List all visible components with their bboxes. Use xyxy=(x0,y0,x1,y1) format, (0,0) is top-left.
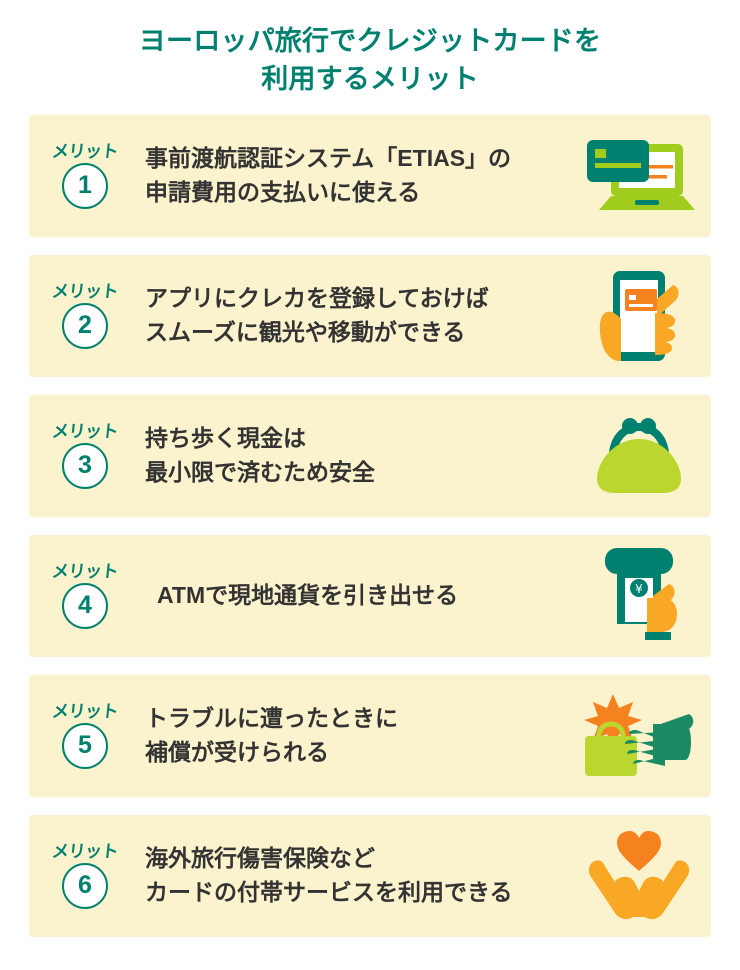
merit-label-6: メリット xyxy=(51,843,119,860)
merit-label-3: メリット xyxy=(51,423,119,440)
merit-text-5-line-2: 補償が受けられる xyxy=(145,736,573,769)
suitcase-trouble-hand-icon xyxy=(573,686,705,786)
merit-badge-3: メリット 3 xyxy=(37,423,133,489)
page-title: ヨーロッパ旅行でクレジットカードを 利用するメリット xyxy=(0,0,740,99)
merit-card-6: メリット 6 海外旅行傷害保険など カードの付帯サービスを利用できる xyxy=(29,815,711,937)
merit-text-5-line-1: トラブルに遭ったときに xyxy=(145,702,573,735)
laptop-credit-card-icon xyxy=(573,126,705,226)
merit-card-2: メリット 2 アプリにクレカを登録しておけば スムーズに観光や移動ができる xyxy=(29,255,711,377)
merit-text-6-line-1: 海外旅行傷害保険など xyxy=(145,842,573,875)
atm-hand-icon: ¥ xyxy=(573,546,705,646)
merit-text-1-line-1: 事前渡航認証システム「ETIAS」の xyxy=(145,142,573,175)
merit-number-6: 6 xyxy=(62,863,108,909)
page-title-line-2: 利用するメリット xyxy=(0,60,740,98)
merit-text-5: トラブルに遭ったときに 補償が受けられる xyxy=(133,702,573,769)
merit-number-2: 2 xyxy=(62,303,108,349)
merit-card-list: メリット 1 事前渡航認証システム「ETIAS」の 申請費用の支払いに使える xyxy=(0,115,740,937)
merit-number-5: 5 xyxy=(62,723,108,769)
merit-badge-4: メリット 4 xyxy=(37,563,133,629)
merit-number-1: 1 xyxy=(62,163,108,209)
infographic-page: ヨーロッパ旅行でクレジットカードを 利用するメリット メリット 1 事前渡航認証… xyxy=(0,0,740,970)
merit-text-4-line-1: ATMで現地通貨を引き出せる xyxy=(157,579,573,612)
merit-text-2: アプリにクレカを登録しておけば スムーズに観光や移動ができる xyxy=(133,282,573,349)
merit-text-4: ATMで現地通貨を引き出せる xyxy=(133,579,573,612)
merit-label-1: メリット xyxy=(51,143,119,160)
merit-badge-5: メリット 5 xyxy=(37,703,133,769)
merit-card-5: メリット 5 トラブルに遭ったときに 補償が受けられる xyxy=(29,675,711,797)
merit-card-4: メリット 4 ATMで現地通貨を引き出せる ¥ xyxy=(29,535,711,657)
merit-label-4: メリット xyxy=(51,563,119,580)
svg-text:¥: ¥ xyxy=(635,582,643,596)
merit-number-3: 3 xyxy=(62,443,108,489)
merit-text-1: 事前渡航認証システム「ETIAS」の 申請費用の支払いに使える xyxy=(133,142,573,209)
merit-text-6-line-2: カードの付帯サービスを利用できる xyxy=(145,876,573,909)
merit-text-2-line-1: アプリにクレカを登録しておけば xyxy=(145,282,573,315)
merit-card-3: メリット 3 持ち歩く現金は 最小限で済むため安全 xyxy=(29,395,711,517)
merit-text-2-line-2: スムーズに観光や移動ができる xyxy=(145,316,573,349)
page-title-line-1: ヨーロッパ旅行でクレジットカードを xyxy=(0,22,740,60)
smartphone-hand-card-icon xyxy=(573,266,705,366)
merit-text-3-line-2: 最小限で済むため安全 xyxy=(145,456,573,489)
hands-holding-heart-icon xyxy=(573,826,705,926)
coin-purse-icon xyxy=(573,406,705,506)
merit-text-6: 海外旅行傷害保険など カードの付帯サービスを利用できる xyxy=(133,842,573,909)
merit-text-3-line-1: 持ち歩く現金は xyxy=(145,422,573,455)
merit-card-1: メリット 1 事前渡航認証システム「ETIAS」の 申請費用の支払いに使える xyxy=(29,115,711,237)
merit-text-3: 持ち歩く現金は 最小限で済むため安全 xyxy=(133,422,573,489)
merit-number-4: 4 xyxy=(62,583,108,629)
merit-badge-2: メリット 2 xyxy=(37,283,133,349)
merit-badge-6: メリット 6 xyxy=(37,843,133,909)
merit-label-5: メリット xyxy=(51,703,119,720)
merit-label-2: メリット xyxy=(51,283,119,300)
merit-badge-1: メリット 1 xyxy=(37,143,133,209)
merit-text-1-line-2: 申請費用の支払いに使える xyxy=(145,176,573,209)
